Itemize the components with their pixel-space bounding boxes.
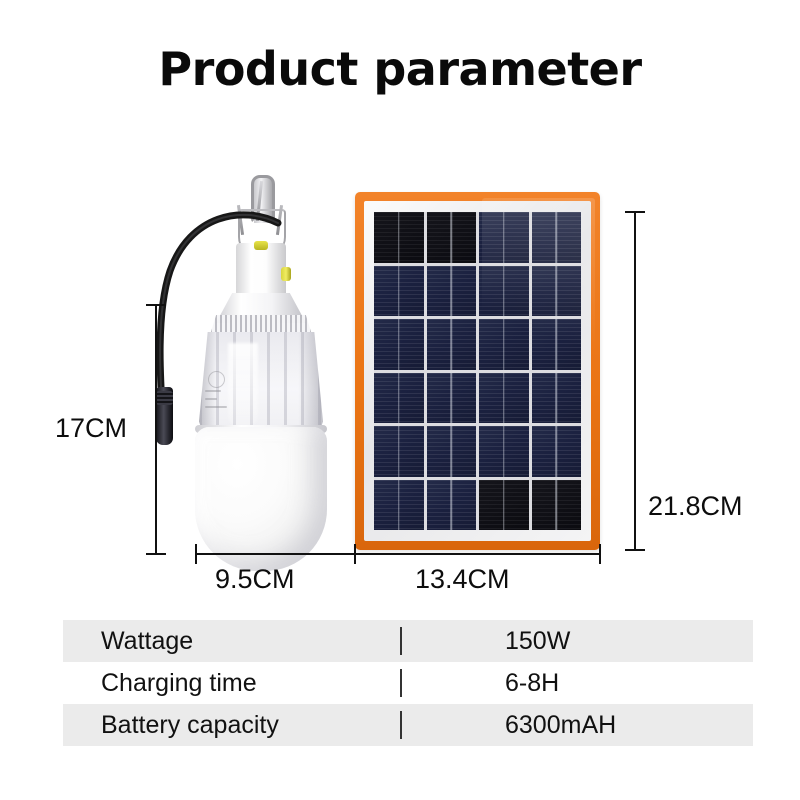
frosted-globe xyxy=(195,427,327,571)
bulb-height-label: 17CM xyxy=(55,413,127,444)
column-divider xyxy=(400,711,402,739)
column-divider xyxy=(400,627,402,655)
table-row: Wattage 150W xyxy=(63,620,753,662)
bulb-width-left-cap xyxy=(195,544,197,564)
yellow-side-grommet xyxy=(281,267,291,281)
panel-height-bottom-cap xyxy=(625,549,645,551)
spec-value: 6300mAH xyxy=(505,711,616,740)
solar-cell-grid xyxy=(374,212,581,530)
bulb-height-bottom-cap xyxy=(146,553,166,555)
yellow-button xyxy=(254,241,268,250)
bulb-print-label xyxy=(204,371,238,413)
page-title: Product parameter xyxy=(0,42,800,96)
spec-name: Charging time xyxy=(101,669,257,698)
panel-width-line xyxy=(355,553,600,555)
bulb-width-label: 9.5CM xyxy=(215,564,295,595)
bulb-width-line xyxy=(195,553,355,555)
spec-value: 6-8H xyxy=(505,669,559,698)
solar-led-bulb xyxy=(150,175,370,585)
spec-name: Wattage xyxy=(101,627,193,656)
solar-panel xyxy=(355,192,600,550)
specification-table: Wattage 150W Charging time 6-8H Battery … xyxy=(63,620,753,746)
table-row: Charging time 6-8H xyxy=(63,662,753,704)
panel-width-right-cap xyxy=(599,544,601,564)
spec-value: 150W xyxy=(505,627,570,656)
column-divider xyxy=(400,669,402,697)
panel-inner-frame xyxy=(364,201,591,541)
panel-height-label: 21.8CM xyxy=(648,491,743,522)
dc-barrel-connector xyxy=(156,387,173,445)
spec-name: Battery capacity xyxy=(101,711,279,740)
bulb-neck xyxy=(236,243,286,299)
product-image-area: 17CM 21.8CM 9.5CM 13.4CM xyxy=(0,150,800,600)
bulb-height-line xyxy=(155,304,157,554)
panel-width-label: 13.4CM xyxy=(415,564,510,595)
table-row: Battery capacity 6300mAH xyxy=(63,704,753,746)
panel-height-line xyxy=(634,211,636,550)
